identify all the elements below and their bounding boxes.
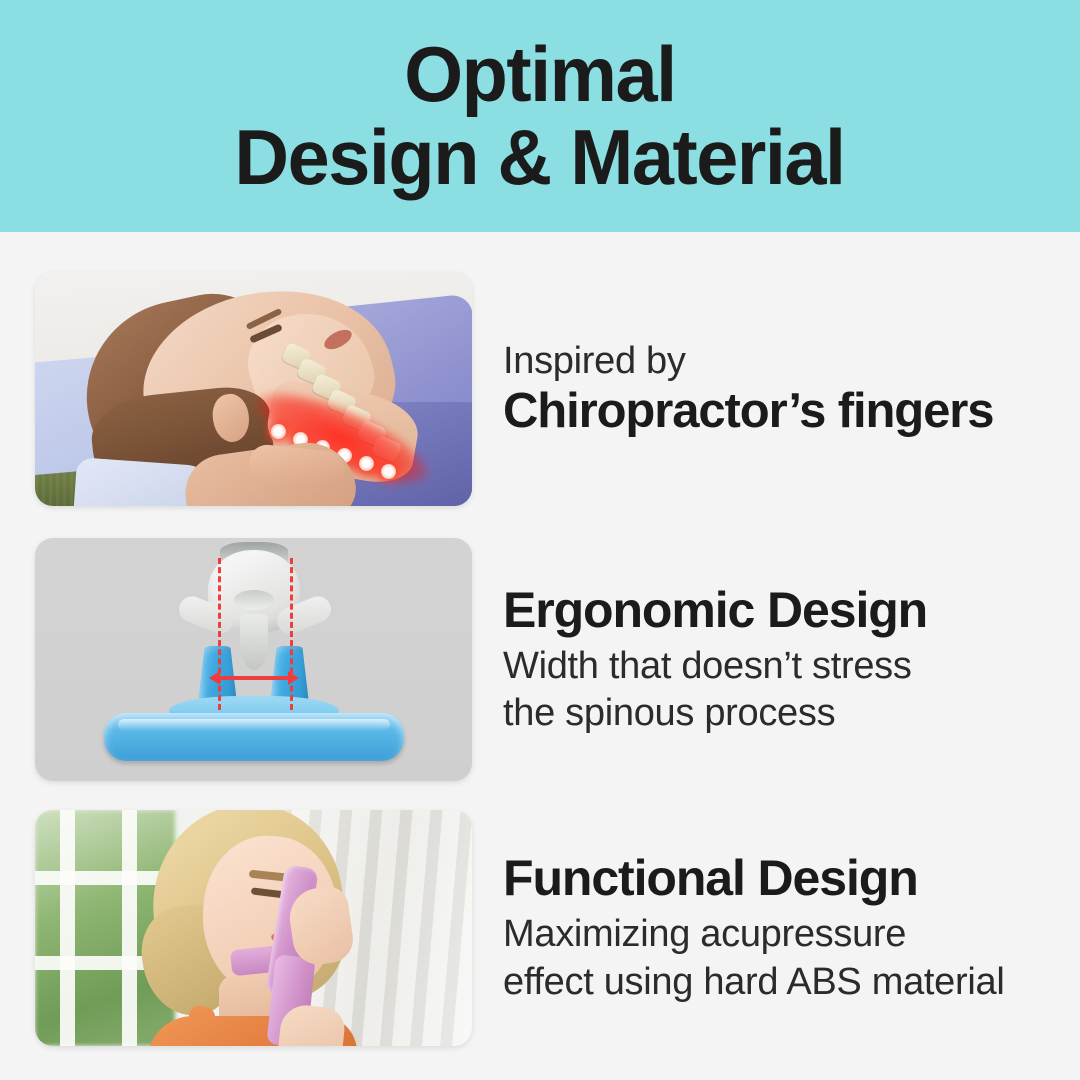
feature-image-chiropractor: [35, 272, 472, 506]
infographic-page: Optimal Design & Material: [0, 0, 1080, 1080]
feature-title: Functional Design: [503, 850, 1063, 907]
feature-body-line2: the spinous process: [503, 690, 1063, 738]
feature-text-chiropractor: Inspired by Chiropractor’s fingers: [503, 272, 1063, 506]
feature-row-chiropractor: Inspired by Chiropractor’s fingers: [0, 272, 1080, 506]
feature-title: Ergonomic Design: [503, 582, 1063, 639]
alignment-guide-right: [290, 558, 293, 710]
feature-body-line1: Width that doesn’t stress: [503, 643, 1063, 691]
feature-row-ergonomic: Ergonomic Design Width that doesn’t stre…: [0, 538, 1080, 781]
alignment-guide-left: [218, 558, 221, 710]
feature-image-ergonomic: [35, 538, 472, 781]
feature-title: Chiropractor’s fingers: [503, 384, 1063, 440]
header-banner: Optimal Design & Material: [0, 0, 1080, 232]
header-title-line2: Design & Material: [235, 119, 845, 196]
header-title-line1: Optimal: [404, 36, 675, 113]
feature-body-line1: Maximizing acupressure: [503, 911, 1063, 959]
feature-body-line2: effect using hard ABS material: [503, 959, 1063, 1007]
feature-text-functional: Functional Design Maximizing acupressure…: [503, 810, 1063, 1046]
width-measure-arrow: [218, 676, 290, 680]
feature-image-functional: [35, 810, 472, 1046]
feature-text-ergonomic: Ergonomic Design Width that doesn’t stre…: [503, 538, 1063, 781]
feature-row-functional: Functional Design Maximizing acupressure…: [0, 810, 1080, 1046]
feature-subtitle: Inspired by: [503, 338, 1063, 384]
